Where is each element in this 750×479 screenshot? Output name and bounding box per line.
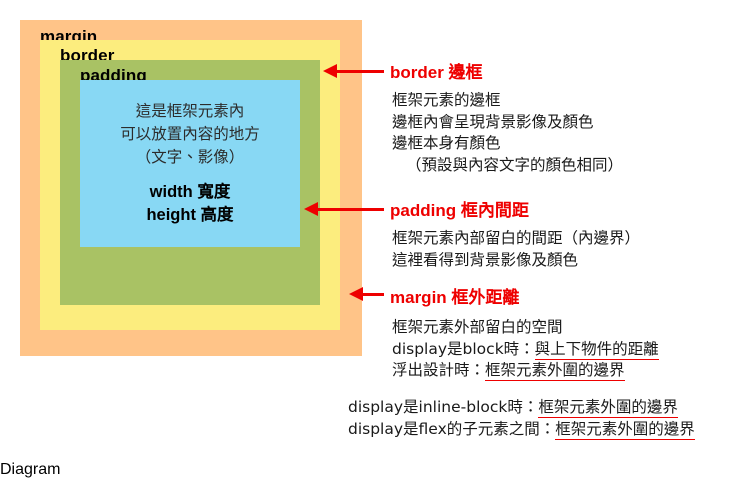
content-line-2: 可以放置內容的地方 bbox=[80, 123, 300, 146]
annotation-margin-line-2-prefix: display是block時： bbox=[392, 340, 535, 358]
content-line-3: （文字、影像） bbox=[80, 146, 300, 169]
annotation-padding-line-1: 框架元素內部留白的間距（內邊界） bbox=[392, 228, 640, 250]
annotation-margin-line-2: display是block時：與上下物件的距離 bbox=[392, 339, 659, 361]
annotation-margin-line-3-underlined: 框架元素外圍的邊界 bbox=[485, 361, 625, 381]
box-model-diagram: margin border padding 這是框架元素內 可以放置內容的地方 … bbox=[0, 0, 750, 461]
annotation-border-line-1: 框架元素的邊框 bbox=[392, 90, 623, 112]
content-line-1: 這是框架元素內 bbox=[80, 100, 300, 123]
annotation-margin-line-3: 浮出設計時：框架元素外圍的邊界 bbox=[392, 360, 659, 382]
extra-note-2-prefix: display是flex的子元素之間： bbox=[348, 420, 555, 438]
extra-note-1-underlined: 框架元素外圍的邊界 bbox=[538, 398, 678, 418]
extra-notes: display是inline-block時：框架元素外圍的邊界 display是… bbox=[348, 396, 695, 440]
annotation-margin: margin 框外距離 框架元素外部留白的空間 display是block時：與… bbox=[390, 283, 659, 382]
padding-box: padding 這是框架元素內 可以放置內容的地方 （文字、影像） width … bbox=[60, 60, 320, 305]
padding-arrow-icon bbox=[317, 208, 384, 211]
annotation-border-line-2: 邊框內會呈現背景影像及顏色 bbox=[392, 112, 623, 134]
annotation-margin-title: margin 框外距離 bbox=[390, 283, 659, 308]
annotation-border: border 邊框 框架元素的邊框 邊框內會呈現背景影像及顏色 邊框本身有顏色 … bbox=[390, 58, 623, 176]
margin-arrow-icon bbox=[362, 293, 384, 296]
border-arrow-icon bbox=[336, 70, 384, 73]
annotation-padding-body: 框架元素內部留白的間距（內邊界） 這裡看得到背景影像及顏色 bbox=[392, 228, 640, 271]
annotation-padding-title: padding 框內間距 bbox=[390, 196, 640, 221]
extra-note-2: display是flex的子元素之間：框架元素外圍的邊界 bbox=[348, 418, 695, 440]
content-height-label: height 高度 bbox=[80, 204, 300, 227]
annotation-margin-line-1: 框架元素外部留白的空間 bbox=[392, 317, 659, 339]
annotation-margin-line-3-prefix: 浮出設計時： bbox=[392, 361, 485, 379]
annotation-border-title: border 邊框 bbox=[390, 58, 623, 83]
content-box: 這是框架元素內 可以放置內容的地方 （文字、影像） width 寬度 heigh… bbox=[80, 80, 300, 247]
annotation-border-body: 框架元素的邊框 邊框內會呈現背景影像及顏色 邊框本身有顏色 （預設與內容文字的顏… bbox=[392, 90, 623, 176]
extra-note-1-prefix: display是inline-block時： bbox=[348, 398, 538, 416]
extra-note-1: display是inline-block時：框架元素外圍的邊界 bbox=[348, 396, 695, 418]
annotation-padding: padding 框內間距 框架元素內部留白的間距（內邊界） 這裡看得到背景影像及… bbox=[390, 196, 640, 271]
border-box: border padding 這是框架元素內 可以放置內容的地方 （文字、影像）… bbox=[40, 40, 340, 330]
annotation-margin-line-2-underlined: 與上下物件的距離 bbox=[535, 340, 659, 360]
annotation-border-line-4: （預設與內容文字的顏色相同） bbox=[392, 155, 623, 177]
margin-box: margin border padding 這是框架元素內 可以放置內容的地方 … bbox=[20, 20, 362, 356]
annotation-border-line-3: 邊框本身有顏色 bbox=[392, 133, 623, 155]
extra-note-2-underlined: 框架元素外圍的邊界 bbox=[555, 420, 695, 440]
annotation-padding-line-2: 這裡看得到背景影像及顏色 bbox=[392, 250, 640, 272]
annotation-margin-body: 框架元素外部留白的空間 display是block時：與上下物件的距離 浮出設計… bbox=[392, 317, 659, 382]
content-width-label: width 寬度 bbox=[80, 181, 300, 204]
content-box-text: 這是框架元素內 可以放置內容的地方 （文字、影像） width 寬度 heigh… bbox=[80, 100, 300, 227]
